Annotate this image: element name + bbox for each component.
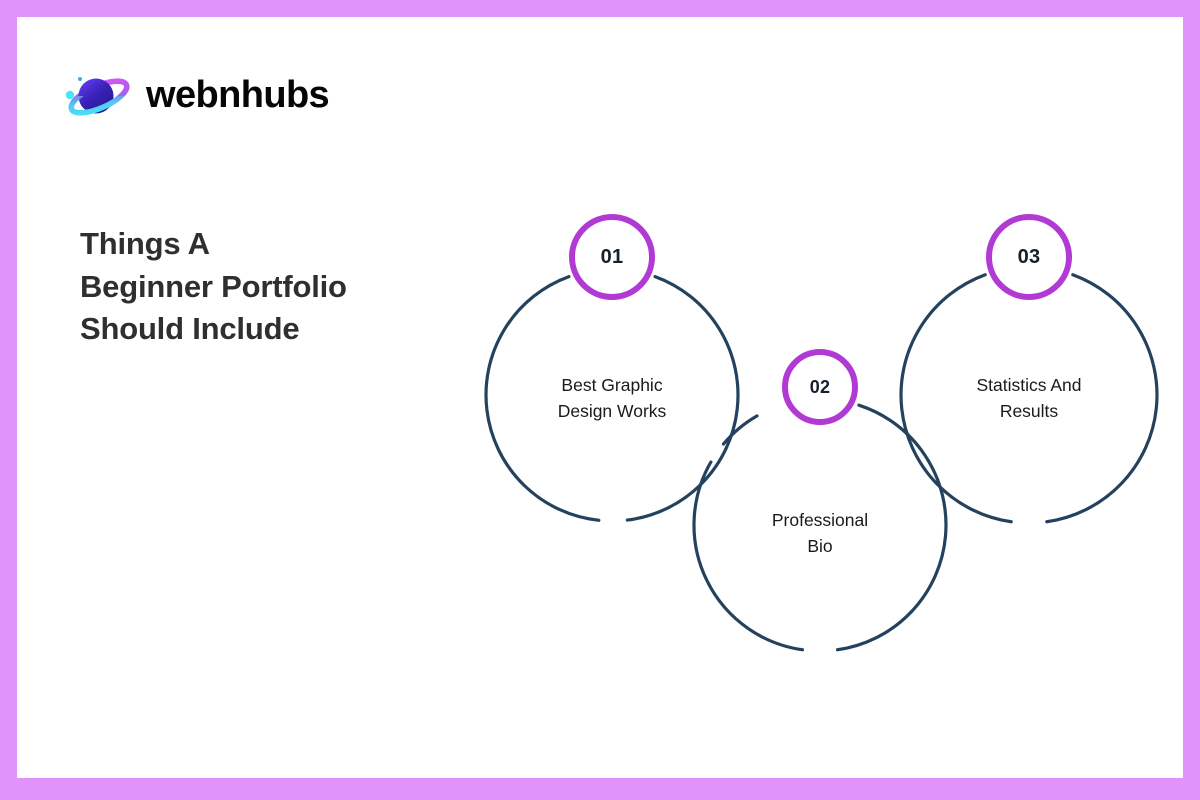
circle-arc	[838, 405, 946, 650]
circle-arc	[723, 416, 757, 444]
circle-arc	[1047, 275, 1157, 522]
circle-arc	[694, 462, 802, 650]
step-badge-03[interactable]: 03	[986, 214, 1072, 300]
circle-arc	[627, 277, 738, 520]
step-badge-02[interactable]: 02	[782, 349, 858, 425]
circles-diagram: Best Graphic Design Works Professional B…	[17, 17, 1183, 778]
step-badge-01-number: 01	[601, 247, 624, 267]
step-badge-03-number: 03	[1018, 247, 1041, 267]
infographic-canvas: webnhubs Things A Beginner Portfolio Sho…	[0, 0, 1200, 800]
circle-arc	[901, 275, 1011, 522]
step-badge-01[interactable]: 01	[569, 214, 655, 300]
inner-page: webnhubs Things A Beginner Portfolio Sho…	[17, 17, 1183, 778]
step-badge-02-number: 02	[810, 378, 831, 396]
circle-arc	[486, 277, 599, 521]
diagram-arcs	[17, 17, 1183, 778]
